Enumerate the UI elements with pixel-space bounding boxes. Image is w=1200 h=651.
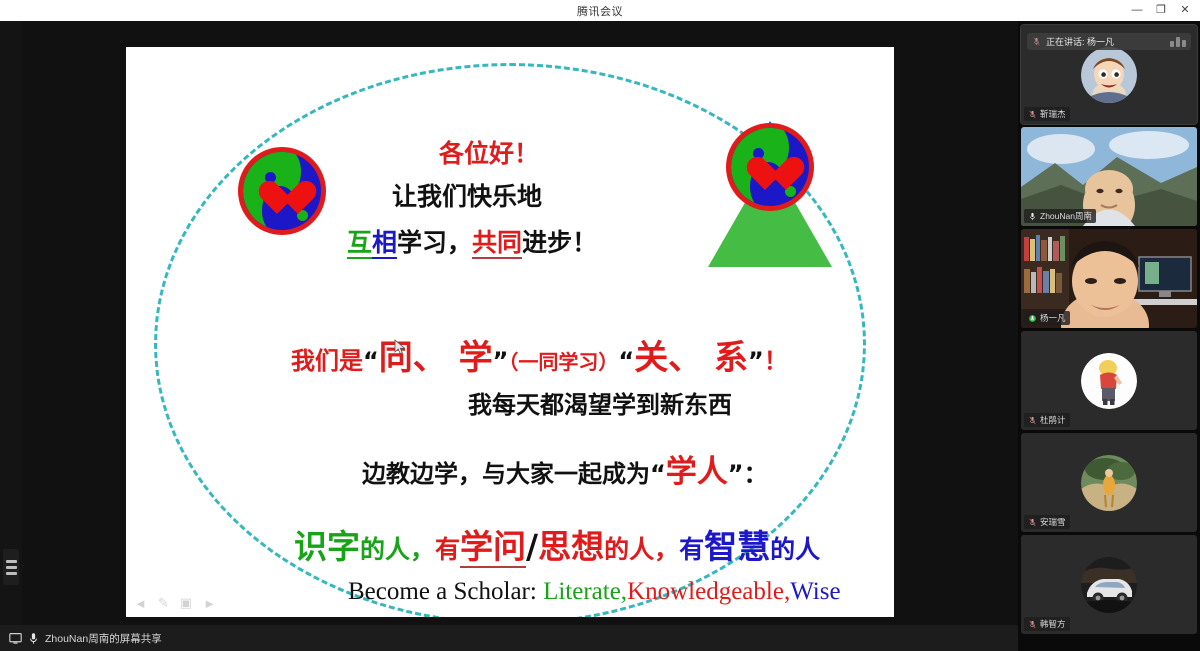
types-word-thought: 思想 bbox=[538, 527, 604, 566]
types-text-2: 有 bbox=[435, 535, 460, 564]
ppt-menu-icon[interactable]: ▣ bbox=[180, 595, 192, 611]
participant-name-pill-2: ZhouNan周南 bbox=[1024, 209, 1096, 223]
participant-tile-3[interactable]: 杨一凡 bbox=[1021, 229, 1197, 328]
teach-word-xueren: 学人 bbox=[666, 454, 728, 490]
audio-wave-icon bbox=[1170, 37, 1186, 47]
speaking-indicator: 正在讲话: 杨一凡 bbox=[1027, 33, 1191, 50]
screen-share-icon bbox=[9, 632, 22, 645]
teach-text-1: 边教边学，与大家一起成为 bbox=[362, 460, 650, 488]
mic-muted-icon bbox=[1028, 518, 1037, 527]
types-word-wisdom: 智慧 bbox=[704, 527, 770, 566]
english-prefix: Become a Scholar: bbox=[348, 578, 543, 605]
class-word-guanxi: 关、 系 bbox=[634, 338, 748, 378]
mutual-char-2: 相 bbox=[372, 228, 397, 259]
mutual-text-2: 进步！ bbox=[522, 228, 597, 257]
participant-name-5: 安瑞雪 bbox=[1040, 516, 1066, 528]
class-excl: ！ bbox=[764, 347, 788, 375]
panel-toggle-handle[interactable] bbox=[3, 549, 19, 585]
english-word-literate: Literate, bbox=[543, 578, 627, 605]
screen-share-label: ZhouNan周南的屏幕共享 bbox=[45, 631, 162, 646]
participant-name-pill-1: 靳瑞杰 bbox=[1024, 107, 1070, 121]
participant-name-pill-5: 安瑞雪 bbox=[1024, 515, 1070, 529]
logo-circle-left bbox=[238, 147, 326, 235]
left-rail bbox=[0, 21, 22, 625]
participant-name-2: ZhouNan周南 bbox=[1040, 210, 1092, 222]
slide-line-teach: 边教边学，与大家一起成为“学人”： bbox=[362, 446, 768, 491]
slide-line-happy: 让我们快乐地 bbox=[392, 177, 542, 213]
participant-tile-2[interactable]: ZhouNan周南 bbox=[1021, 127, 1197, 226]
participant-name-4: 杜鹃计 bbox=[1040, 414, 1066, 426]
avatar bbox=[1081, 557, 1137, 613]
window-controls: — ❐ ✕ bbox=[1126, 0, 1196, 21]
participant-tile-1[interactable]: 正在讲话: 杨一凡 bbox=[1021, 25, 1197, 124]
slide-line-types: 识字的人，有学问/思想的人，有智慧的人 bbox=[294, 520, 820, 568]
types-slash: / bbox=[526, 527, 538, 566]
app-body: 各位好！ 让我们快乐地 互相学习，共同进步！ 我们是“同、 学”（一同学习）“关… bbox=[0, 21, 1200, 651]
mic-muted-icon bbox=[1028, 212, 1037, 221]
types-text-5: 的人 bbox=[770, 535, 820, 564]
slide-line-greeting: 各位好！ bbox=[439, 134, 539, 170]
teach-quote-2: ” bbox=[728, 460, 744, 488]
class-text-1: 我们是 bbox=[291, 347, 363, 375]
avatar bbox=[1081, 47, 1137, 103]
avatar bbox=[1081, 455, 1137, 511]
mutual-char-1: 互 bbox=[347, 228, 372, 259]
participant-name-3: 杨一凡 bbox=[1040, 312, 1066, 324]
types-word-literate: 识字 bbox=[294, 527, 360, 566]
window-titlebar: 腾讯会议 — ❐ ✕ bbox=[0, 0, 1200, 21]
ppt-next-icon[interactable]: ► bbox=[203, 596, 216, 611]
teach-quote-1: “ bbox=[650, 460, 666, 488]
ppt-prev-icon[interactable]: ◄ bbox=[134, 596, 147, 611]
avatar bbox=[1081, 353, 1137, 409]
mic-muted-icon bbox=[1028, 110, 1037, 119]
ppt-pen-icon[interactable]: ✎ bbox=[158, 595, 169, 611]
participant-name-1: 靳瑞杰 bbox=[1040, 108, 1066, 120]
participant-sidebar[interactable]: 正在讲话: 杨一凡 bbox=[1018, 21, 1200, 651]
speaker-mic-icon bbox=[1032, 37, 1041, 46]
window-title: 腾讯会议 bbox=[577, 3, 623, 19]
close-button[interactable]: ✕ bbox=[1174, 1, 1196, 20]
participant-name-pill-6: 韩智方 bbox=[1024, 617, 1070, 631]
slide-line-classmates: 我们是“同、 学”（一同学习）“关、 系”！ bbox=[291, 330, 788, 379]
english-word-knowledgeable: Knowledgeable, bbox=[627, 578, 790, 605]
shared-screen-stage[interactable]: 各位好！ 让我们快乐地 互相学习，共同进步！ 我们是“同、 学”（一同学习）“关… bbox=[22, 21, 1018, 625]
speaking-label: 正在讲话: 杨一凡 bbox=[1046, 35, 1114, 48]
slide-line-english: Become a Scholar: Literate,Knowledgeable… bbox=[348, 578, 841, 606]
mutual-text-1: 学习， bbox=[397, 228, 472, 257]
types-word-knowledge: 学问 bbox=[460, 527, 526, 568]
participant-tile-4[interactable]: 杜鹃计 bbox=[1021, 331, 1197, 430]
mic-muted-icon bbox=[1028, 620, 1037, 629]
participant-name-pill-4: 杜鹃计 bbox=[1024, 413, 1070, 427]
class-quote-1: “ bbox=[363, 347, 379, 375]
class-quote-3: “ bbox=[618, 347, 634, 375]
microphone-icon bbox=[28, 632, 39, 645]
maximize-button[interactable]: ❐ bbox=[1150, 1, 1172, 20]
mic-muted-icon bbox=[1028, 416, 1037, 425]
presentation-slide[interactable]: 各位好！ 让我们快乐地 互相学习，共同进步！ 我们是“同、 学”（一同学习）“关… bbox=[126, 47, 894, 617]
mouse-cursor-icon bbox=[394, 339, 406, 355]
bottom-status-bar: ZhouNan周南的屏幕共享 bbox=[0, 625, 1018, 651]
types-text-4: 有 bbox=[679, 535, 704, 564]
class-paren: （一同学习） bbox=[508, 350, 618, 374]
participant-name-pill-3: 杨一凡 bbox=[1024, 311, 1070, 325]
participant-name-6: 韩智方 bbox=[1040, 618, 1066, 630]
participant-tile-6[interactable]: 韩智方 bbox=[1021, 535, 1197, 634]
class-quote-2: ” bbox=[493, 347, 509, 375]
teach-colon: ： bbox=[744, 460, 768, 488]
types-text-3: 的人， bbox=[604, 535, 679, 564]
ppt-navigation-bar[interactable]: ◄ ✎ ▣ ► bbox=[134, 595, 216, 611]
slide-line-mutual: 互相学习，共同进步！ bbox=[347, 223, 597, 259]
minimize-button[interactable]: — bbox=[1126, 1, 1148, 20]
mutual-char-3: 共同 bbox=[472, 228, 522, 259]
class-quote-4: ” bbox=[748, 347, 764, 375]
mic-active-icon bbox=[1028, 314, 1037, 323]
slide-line-eager: 我每天都渴望学到新东西 bbox=[468, 385, 732, 420]
types-text-1: 的人， bbox=[360, 535, 435, 564]
participant-tile-5[interactable]: 安瑞雪 bbox=[1021, 433, 1197, 532]
english-word-wise: Wise bbox=[790, 578, 840, 605]
